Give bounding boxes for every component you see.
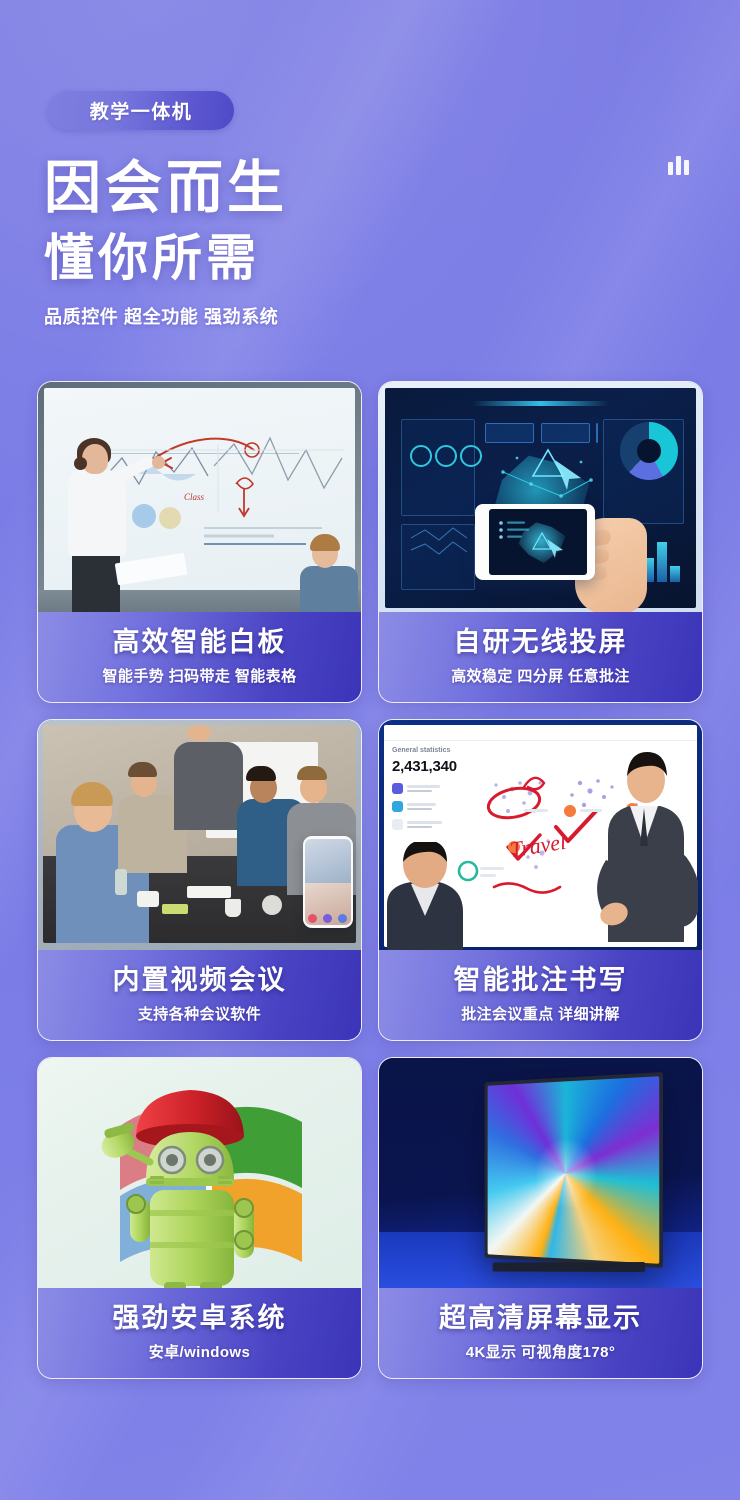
smart-annotation-illustration: General statistics 2,431,340: [379, 720, 702, 952]
video-conference-illustration: [38, 720, 361, 952]
wireless-screencast-illustration: [379, 382, 702, 614]
feature-card-title: 内置视频会议: [113, 966, 287, 996]
feature-card-caption: 强劲安卓系统 安卓/windows: [38, 1288, 361, 1378]
feature-card-caption: 自研无线投屏 高效稳定 四分屏 任意批注: [379, 612, 702, 702]
hero-section: 教学一体机 因会而生 懂你所需 品质控件 超全功能 强劲系统: [0, 0, 740, 370]
feature-card-grid: Class 高效智能白板 智能手势: [37, 381, 703, 1379]
equalizer-bar: [684, 160, 689, 175]
feature-card[interactable]: Class 高效智能白板 智能手势: [37, 381, 362, 703]
feature-card-caption: 内置视频会议 支持各种会议软件: [38, 950, 361, 1040]
attendee-figure: [385, 842, 471, 952]
feature-card-title: 高效智能白板: [113, 628, 287, 658]
feature-card-image: Class: [38, 382, 361, 614]
feature-card-image: [379, 1058, 702, 1290]
android-robot-icon: [38, 1058, 361, 1290]
equalizer-bar: [668, 162, 673, 175]
feature-card-subtitle: 安卓/windows: [149, 1341, 251, 1362]
whiteboard-lesson-illustration: Class: [38, 382, 361, 614]
feature-card-title: 智能批注书写: [454, 966, 628, 996]
headline-line-2: 懂你所需: [44, 233, 288, 283]
feature-card-caption: 智能批注书写 批注会议重点 详细讲解: [379, 950, 702, 1040]
feature-card[interactable]: 自研无线投屏 高效稳定 四分屏 任意批注: [378, 381, 703, 703]
feature-card-title: 自研无线投屏: [454, 628, 628, 658]
feature-card-image: [38, 1058, 361, 1290]
feature-card-subtitle: 高效稳定 四分屏 任意批注: [451, 665, 630, 686]
category-badge-label: 教学一体机: [90, 97, 193, 124]
feature-card-image: [38, 720, 361, 952]
feature-card[interactable]: General statistics 2,431,340: [378, 719, 703, 1041]
category-badge: 教学一体机: [48, 91, 234, 130]
android-windows-illustration: [38, 1058, 361, 1290]
equalizer-bar: [676, 156, 681, 175]
feature-card-caption: 高效智能白板 智能手势 扫码带走 智能表格: [38, 612, 361, 702]
feature-card-subtitle: 智能手势 扫码带走 智能表格: [103, 665, 297, 686]
uhd-display-illustration: [379, 1058, 702, 1290]
feature-card-title: 强劲安卓系统: [113, 1304, 287, 1334]
feature-card-caption: 超高清屏幕显示 4K显示 可视角度178°: [379, 1288, 702, 1378]
feature-card-subtitle: 支持各种会议软件: [138, 1003, 261, 1024]
feature-card[interactable]: 内置视频会议 支持各种会议软件: [37, 719, 362, 1041]
feature-card-image: [379, 382, 702, 614]
presenter-figure: [590, 742, 698, 942]
feature-card[interactable]: 强劲安卓系统 安卓/windows: [37, 1057, 362, 1379]
page-title: 因会而生 懂你所需: [44, 160, 288, 283]
headline-line-1: 因会而生: [44, 160, 288, 217]
feature-card-subtitle: 批注会议重点 详细讲解: [461, 1003, 620, 1024]
feature-card-title: 超高清屏幕显示: [439, 1304, 642, 1334]
feature-card[interactable]: 超高清屏幕显示 4K显示 可视角度178°: [378, 1057, 703, 1379]
svg-text:Class: Class: [184, 492, 205, 502]
equalizer-bars-icon: [668, 156, 689, 175]
feature-card-subtitle: 4K显示 可视角度178°: [466, 1341, 616, 1362]
feature-card-image: General statistics 2,431,340: [379, 720, 702, 952]
page-subtitle: 品质控件 超全功能 强劲系统: [44, 303, 278, 329]
